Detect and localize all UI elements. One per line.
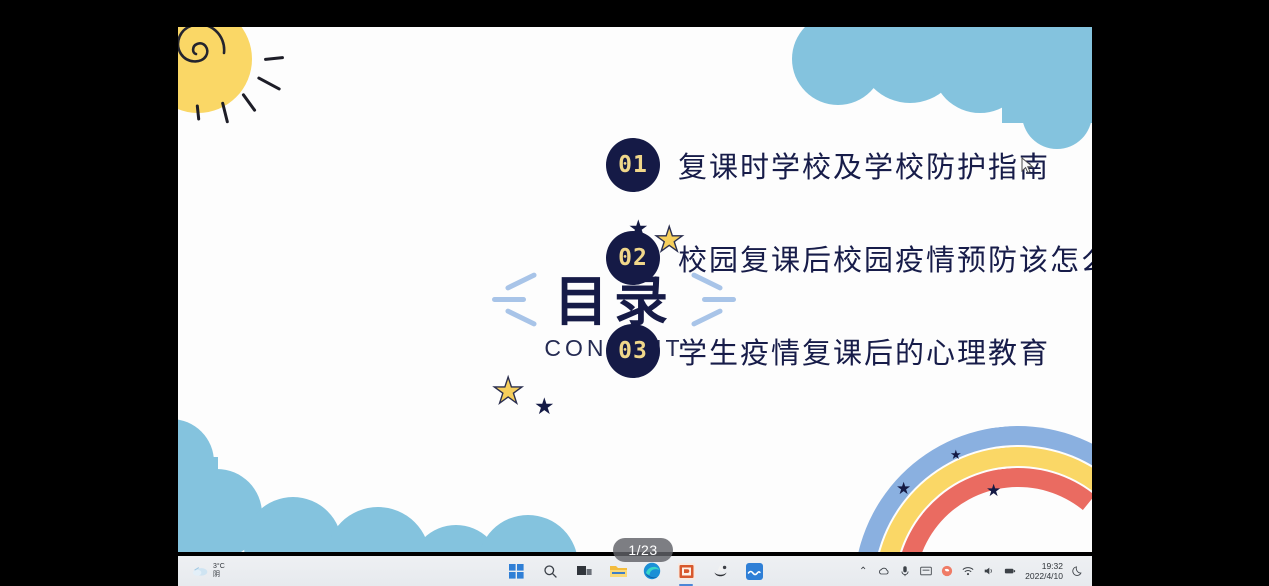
onedrive-cloud-icon[interactable] [878,565,890,577]
weather-temperature: 3°C [213,563,225,571]
folder-icon [609,563,628,579]
clock-time: 19:32 [1025,561,1063,571]
task-view-button[interactable] [573,560,595,582]
agenda-number-badge: 03 [606,324,660,378]
taskbar-clock[interactable]: 19:32 2022/4/10 [1025,561,1063,581]
powerpoint-icon [678,563,695,580]
agenda-list: 01 复课时学校及学校防护指南 02 校园复课后校园疫情预防该怎么做 03 学生… [606,132,1076,411]
system-tray: ⌃ [857,561,1084,581]
weather-widget[interactable]: 3°C 阴 [192,563,225,579]
sun-spiral-icon [178,27,248,109]
agenda-item[interactable]: 01 复课时学校及学校防护指南 [606,132,1076,225]
decor-dash [505,308,538,327]
powerpoint-button[interactable] [675,560,697,582]
taskbar-app-group [505,560,765,582]
decor-dash [505,272,538,291]
agenda-number-badge: 02 [606,231,660,285]
windows-logo-icon [509,564,524,579]
weather-condition: 阴 [213,571,225,579]
screen-root: ★ ★ ★ 目录 CONTENT ★ ★ ★ ★ [0,0,1269,586]
edge-browser-icon [643,562,661,580]
cloud-icon [772,27,1092,143]
sun-ray-icon [264,56,284,61]
agenda-number-badge: 01 [606,138,660,192]
search-button[interactable] [539,560,561,582]
input-method-icon[interactable] [920,565,932,577]
agenda-item[interactable]: 02 校园复课后校园疫情预防该怎么做 [606,225,1076,318]
task-view-icon [577,564,592,578]
security-icon[interactable] [941,565,953,577]
meeting-app-icon [746,563,763,580]
volume-icon[interactable] [983,565,995,577]
mouse-cursor [1021,157,1035,175]
start-button[interactable] [505,560,527,582]
shared-screen-area[interactable]: ★ ★ ★ 目录 CONTENT ★ ★ ★ ★ [178,27,1092,552]
meeting-sidebar: 老师 赖老师 [1092,0,1269,586]
agenda-item-label: 学生疫情复课后的心理教育 [678,330,1050,372]
microphone-icon[interactable] [899,565,911,577]
wps-icon [712,563,729,580]
wps-button[interactable] [709,560,731,582]
clock-date: 2022/4/10 [1025,571,1063,581]
edge-button[interactable] [641,560,663,582]
rainbow-icon: ★ ★ ★ [854,426,1092,552]
cloud-weather-icon [192,564,209,578]
wifi-icon[interactable] [962,565,974,577]
agenda-item[interactable]: 03 学生疫情复课后的心理教育 [606,318,1076,411]
star-icon: ★ [534,395,555,418]
moon-do-not-disturb-icon[interactable] [1072,565,1084,577]
battery-icon[interactable] [1004,565,1016,577]
meeting-app-button[interactable] [743,560,765,582]
chevron-up-icon[interactable]: ⌃ [857,565,869,577]
agenda-item-label: 复课时学校及学校防护指南 [678,144,1050,186]
decor-dash [492,297,526,302]
star-icon: ★ [492,373,524,409]
file-explorer-button[interactable] [607,560,629,582]
agenda-item-label: 校园复课后校园疫情预防该怎么做 [678,237,1092,279]
presentation-slide: ★ ★ ★ 目录 CONTENT ★ ★ ★ ★ [178,27,1092,552]
page-indicator: 1/23 [613,538,673,562]
search-icon [543,564,558,579]
sun-ray-icon [257,76,281,91]
